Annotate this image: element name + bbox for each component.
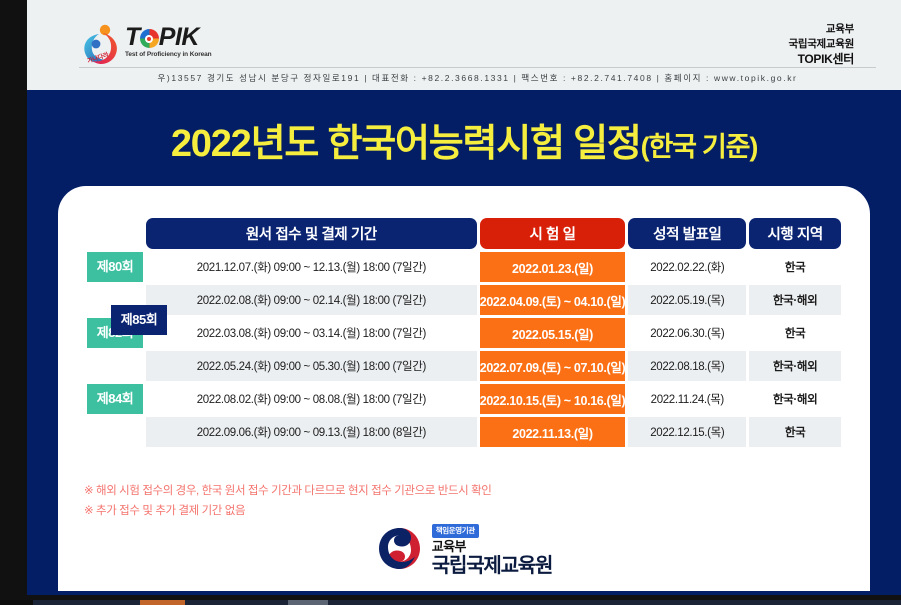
taegeuk-icon xyxy=(376,525,423,572)
exam-date-cell: 2022.05.15.(일) xyxy=(480,318,626,348)
org-line-institute: 국립국제교육원 xyxy=(788,37,854,52)
header-round xyxy=(87,218,143,249)
bottom-strip-dark xyxy=(0,600,33,605)
table-row: 제83회 2022.05.24.(화) 09:00 ~ 05.30.(월) 18… xyxy=(87,351,841,381)
left-gutter xyxy=(0,0,27,605)
screenshot-root: 가나다라 TPIK Test of Proficiency in Korean … xyxy=(0,0,901,605)
result-date-cell: 2022.08.18.(목) xyxy=(628,351,746,381)
footer-institute: 국립국제교육원 xyxy=(432,555,552,577)
footer-logo: 책임운영기관 교육부 국립국제교육원 xyxy=(58,520,870,577)
topik-logo[interactable]: 가나다라 TPIK Test of Proficiency in Korean xyxy=(79,18,219,70)
table-body: 제80회 2021.12.07.(화) 09:00 ~ 12.13.(월) 18… xyxy=(87,252,841,447)
table-row: 제84회 2022.08.02.(화) 09:00 ~ 08.08.(월) 18… xyxy=(87,384,841,414)
footnote-overseas: ※ 해외 시험 접수의 경우, 한국 원서 접수 기간과 다르므로 현지 접수 … xyxy=(84,481,491,501)
header-period: 원서 접수 및 결제 기간 xyxy=(146,218,477,249)
region-cell: 한국·해외 xyxy=(749,285,841,315)
topik-o-circle-icon xyxy=(140,29,159,48)
result-date-cell: 2022.12.15.(목) xyxy=(628,417,746,447)
exam-date-cell: 2022.11.13.(일) xyxy=(480,417,626,447)
result-date-cell: 2022.02.22.(화) xyxy=(628,252,746,282)
period-cell: 2022.08.02.(화) 09:00 ~ 08.08.(월) 18:00 (… xyxy=(146,384,477,414)
address-line: 우)13557 경기도 성남시 분당구 정자일로191 | 대표전화 : +82… xyxy=(79,72,876,88)
exam-date-cell: 2022.01.23.(일) xyxy=(480,252,626,282)
wordmark-t: T xyxy=(125,23,140,51)
footnote-no-extra: ※ 추가 접수 및 추가 결제 기간 없음 xyxy=(84,501,491,521)
table-row: 제85회 2022.09.06.(화) 09:00 ~ 09.13.(월) 18… xyxy=(87,417,841,447)
table-row: 제82회 2022.03.08.(화) 09:00 ~ 03.14.(월) 18… xyxy=(87,318,841,348)
round-badge-cell: 제83회 xyxy=(87,351,143,381)
header-result-date: 성적 발표일 xyxy=(628,218,746,249)
page-header: 가나다라 TPIK Test of Proficiency in Korean … xyxy=(27,0,901,90)
region-cell: 한국 xyxy=(749,417,841,447)
period-cell: 2021.12.07.(화) 09:00 ~ 12.13.(월) 18:00 (… xyxy=(146,252,477,282)
exam-date-cell: 2022.07.09.(토) ~ 07.10.(일) xyxy=(480,351,626,381)
round-badge-cell: 제85회 xyxy=(87,417,143,447)
page-title-main: 2022년도 한국어능력시험 일정 xyxy=(171,123,641,165)
bottom-strip-grey-item[interactable] xyxy=(288,600,328,605)
table-header-row: 원서 접수 및 결제 기간 시 험 일 성적 발표일 시행 지역 xyxy=(87,218,841,249)
period-cell: 2022.03.08.(화) 09:00 ~ 03.14.(월) 18:00 (… xyxy=(146,318,477,348)
table-row: 제81회 2022.02.08.(화) 09:00 ~ 02.14.(월) 18… xyxy=(87,285,841,315)
bottom-strip xyxy=(0,600,901,605)
header-divider xyxy=(79,67,876,68)
bottom-strip-orange-item[interactable] xyxy=(140,600,185,605)
round-badge-cell: 제80회 xyxy=(87,252,143,282)
period-cell: 2022.05.24.(화) 09:00 ~ 05.30.(월) 18:00 (… xyxy=(146,351,477,381)
round-badge: 제84회 xyxy=(87,384,143,414)
region-cell: 한국 xyxy=(749,318,841,348)
round-badge: 제85회 xyxy=(111,305,167,335)
organization-block: 교육부 국립국제교육원 TOPIK센터 xyxy=(788,22,854,67)
schedule-card: 원서 접수 및 결제 기간 시 험 일 성적 발표일 시행 지역 제80회 20… xyxy=(58,186,870,591)
header-region: 시행 지역 xyxy=(749,218,841,249)
org-line-center: TOPIK센터 xyxy=(788,52,854,67)
footer-logo-text: 책임운영기관 교육부 국립국제교육원 xyxy=(432,520,552,577)
table-row: 제80회 2021.12.07.(화) 09:00 ~ 12.13.(월) 18… xyxy=(87,252,841,282)
topik-tagline: Test of Proficiency in Korean xyxy=(125,51,221,58)
topik-swirl-icon: 가나다라 xyxy=(79,24,123,68)
result-date-cell: 2022.05.19.(목) xyxy=(628,285,746,315)
page-title: 2022년도 한국어능력시험 일정(한국 기준) xyxy=(27,112,901,167)
round-badge-cell: 제84회 xyxy=(87,384,143,414)
footnotes: ※ 해외 시험 접수의 경우, 한국 원서 접수 기간과 다르므로 현지 접수 … xyxy=(84,481,491,521)
wordmark-pik: PIK xyxy=(159,23,199,51)
responsible-agency-badge: 책임운영기관 xyxy=(432,524,479,538)
exam-date-cell: 2022.10.15.(토) ~ 10.16.(일) xyxy=(480,384,626,414)
result-date-cell: 2022.11.24.(목) xyxy=(628,384,746,414)
region-cell: 한국 xyxy=(749,252,841,282)
result-date-cell: 2022.06.30.(목) xyxy=(628,318,746,348)
org-line-ministry: 교육부 xyxy=(788,22,854,37)
header-exam-date: 시 험 일 xyxy=(480,218,626,249)
schedule-table: 원서 접수 및 결제 기간 시 험 일 성적 발표일 시행 지역 제80회 20… xyxy=(84,215,844,450)
footer-ministry: 교육부 xyxy=(432,539,552,555)
exam-date-cell: 2022.04.09.(토) ~ 04.10.(일) xyxy=(480,285,626,315)
round-badge: 제80회 xyxy=(87,252,143,282)
period-cell: 2022.09.06.(화) 09:00 ~ 09.13.(월) 18:00 (… xyxy=(146,417,477,447)
region-cell: 한국·해외 xyxy=(749,384,841,414)
period-cell: 2022.02.08.(화) 09:00 ~ 02.14.(월) 18:00 (… xyxy=(146,285,477,315)
region-cell: 한국·해외 xyxy=(749,351,841,381)
topik-wordmark: TPIK Test of Proficiency in Korean xyxy=(125,24,221,68)
page-title-sub: (한국 기준) xyxy=(641,132,757,162)
